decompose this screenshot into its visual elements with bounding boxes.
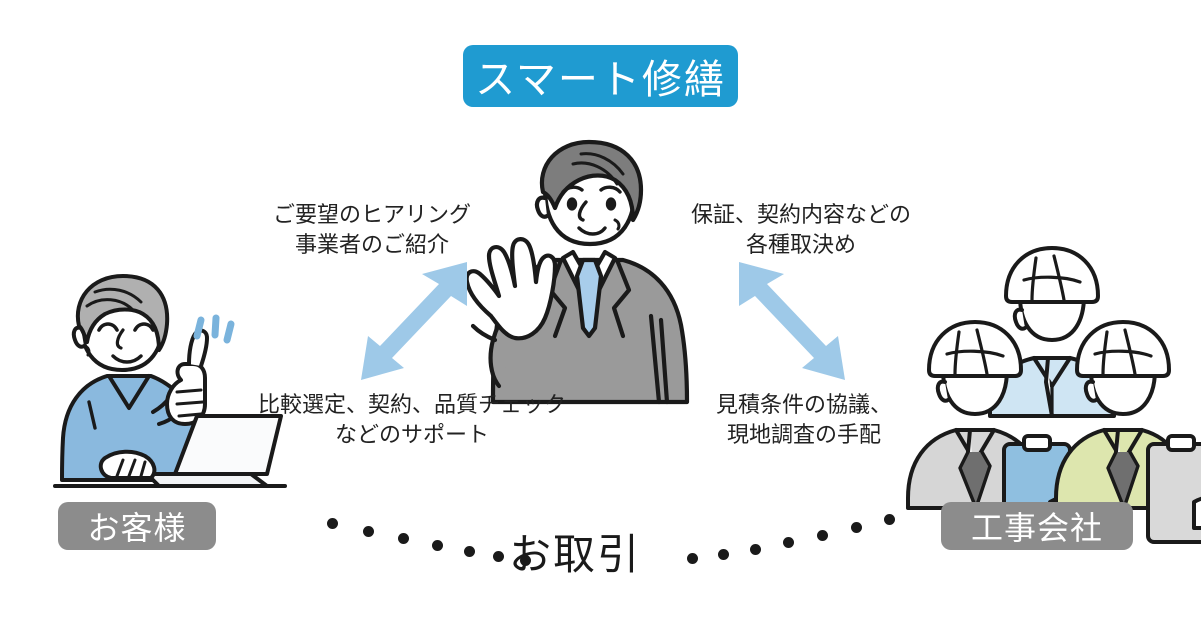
deal-dot-left-3 <box>432 540 443 551</box>
advisor-illustration <box>455 140 725 405</box>
caption-top-left: ご要望のヒアリング 事業者のご紹介 <box>262 201 482 260</box>
caption-top-right: 保証、契約内容などの 各種取決め <box>676 201 926 260</box>
diagram-canvas: スマート修繕 <box>0 0 1201 630</box>
deal-dot-right-0 <box>687 553 698 564</box>
arrow-customer-advisor <box>352 258 492 393</box>
deal-dot-right-4 <box>817 530 828 541</box>
deal-dot-left-2 <box>398 533 409 544</box>
deal-dot-left-1 <box>363 526 374 537</box>
title-badge: スマート修繕 <box>463 45 738 107</box>
deal-dot-left-4 <box>464 546 475 557</box>
deal-label: お取引 <box>509 521 641 582</box>
deal-dot-right-3 <box>783 537 794 548</box>
caption-bottom-left: 比較選定、契約、品質チェック などのサポート <box>252 391 572 450</box>
deal-dot-right-5 <box>851 522 862 533</box>
badge-contractor: 工事会社 <box>941 502 1133 550</box>
deal-dot-right-1 <box>718 549 729 560</box>
caption-bottom-right: 見積条件の協議、 現地調査の手配 <box>698 391 910 450</box>
customer-illustration <box>55 272 285 507</box>
badge-customer: お客様 <box>58 502 216 550</box>
deal-dot-right-6 <box>884 514 895 525</box>
deal-dot-right-2 <box>750 544 761 555</box>
arrow-advisor-contractor <box>714 258 854 393</box>
construction-workers-illustration <box>898 240 1188 510</box>
deal-dot-left-5 <box>493 551 504 562</box>
deal-dot-left-0 <box>327 518 338 529</box>
